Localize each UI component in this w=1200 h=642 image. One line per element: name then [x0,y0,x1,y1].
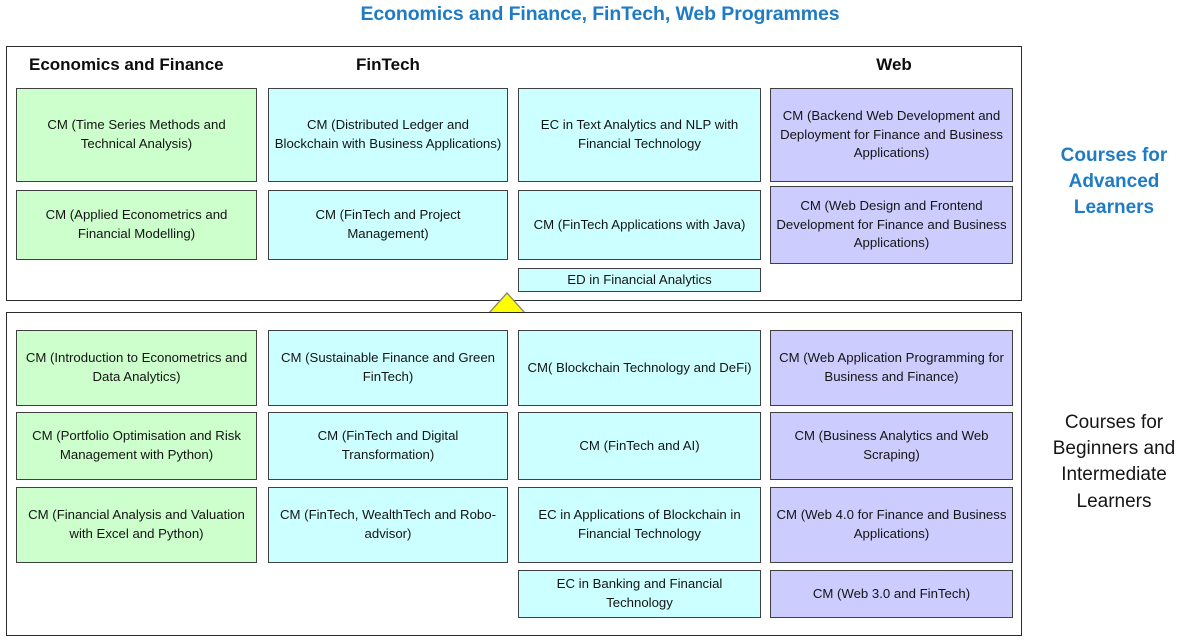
course-box[interactable]: CM (Web Design and Frontend Development … [770,186,1013,264]
column-header-web: Web [769,55,1019,75]
course-box[interactable]: CM (Sustainable Finance and Green FinTec… [268,330,508,406]
course-box[interactable]: ED in Financial Analytics [518,268,761,292]
course-box[interactable]: EC in Banking and Financial Technology [518,570,761,618]
course-box[interactable]: CM (Introduction to Econometrics and Dat… [16,330,257,406]
side-label-advanced: Courses for Advanced Learners [1030,143,1198,222]
course-box[interactable]: CM (Web Application Programming for Busi… [770,330,1013,406]
side-label-beginner: Courses for Beginners and Intermediate L… [1030,410,1198,515]
course-box[interactable]: CM (Applied Econometrics and Financial M… [16,190,257,260]
course-box[interactable]: CM (Distributed Ledger and Blockchain wi… [268,88,508,182]
course-box[interactable]: EC in Applications of Blockchain in Fina… [518,487,761,563]
course-box[interactable]: EC in Text Analytics and NLP with Financ… [518,88,761,182]
course-box[interactable]: CM (Portfolio Optimisation and Risk Mana… [16,412,257,480]
column-header-economics-and-finance: Economics and Finance [29,55,224,75]
course-box[interactable]: CM (FinTech and AI) [518,412,761,480]
course-box[interactable]: CM (Time Series Methods and Technical An… [16,88,257,182]
course-box[interactable]: CM (Financial Analysis and Valuation wit… [16,487,257,563]
course-box[interactable]: CM (FinTech and Project Management) [268,190,508,260]
course-box[interactable]: CM (Business Analytics and Web Scraping) [770,412,1013,480]
course-box[interactable]: CM (FinTech Applications with Java) [518,190,761,260]
column-header-fintech: FinTech [263,55,513,75]
course-box[interactable]: CM (Web 4.0 for Finance and Business App… [770,487,1013,563]
course-box[interactable]: CM (Backend Web Development and Deployme… [770,88,1013,182]
course-box[interactable]: CM( Blockchain Technology and DeFi) [518,330,761,406]
course-box[interactable]: CM (FinTech and Digital Transformation) [268,412,508,480]
course-box[interactable]: CM (FinTech, WealthTech and Robo-advisor… [268,487,508,563]
page-title: Economics and Finance, FinTech, Web Prog… [0,3,1200,26]
course-box[interactable]: CM (Web 3.0 and FinTech) [770,570,1013,618]
